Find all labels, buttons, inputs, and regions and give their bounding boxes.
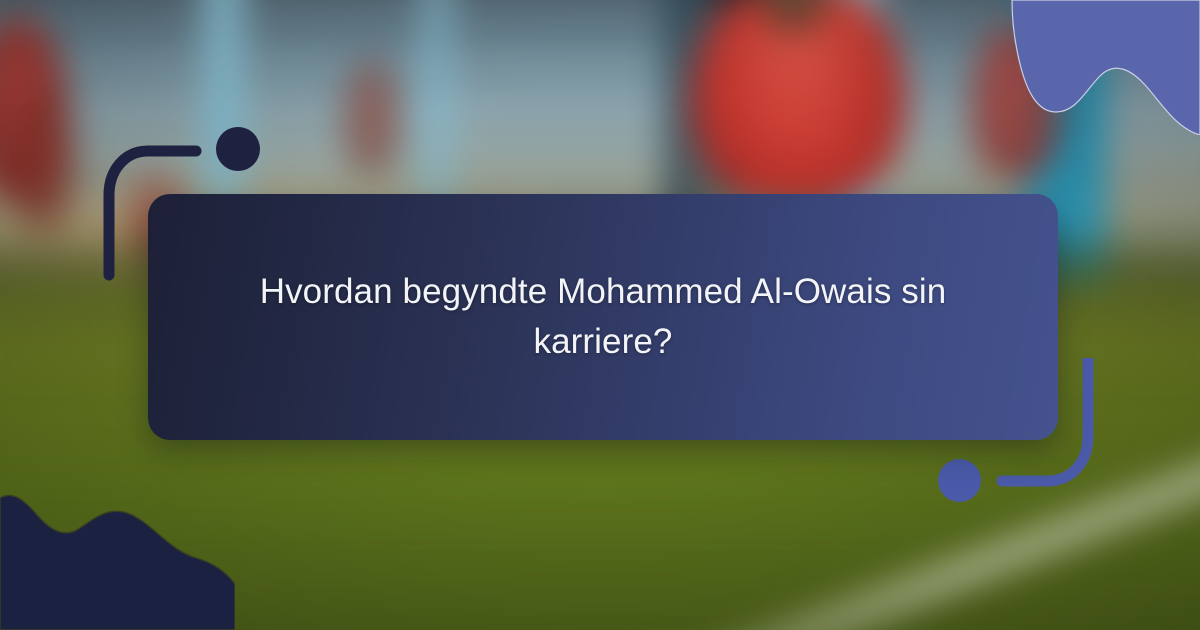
question-card: Hvordan begyndte Mohammed Al-Owais sin k…: [148, 194, 1058, 440]
question-text: Hvordan begyndte Mohammed Al-Owais sin k…: [224, 267, 982, 366]
share-card-canvas: Hvordan begyndte Mohammed Al-Owais sin k…: [0, 0, 1200, 630]
decorative-dot-bottom-icon: [938, 459, 981, 502]
decorative-dot-top-icon: [216, 127, 260, 171]
